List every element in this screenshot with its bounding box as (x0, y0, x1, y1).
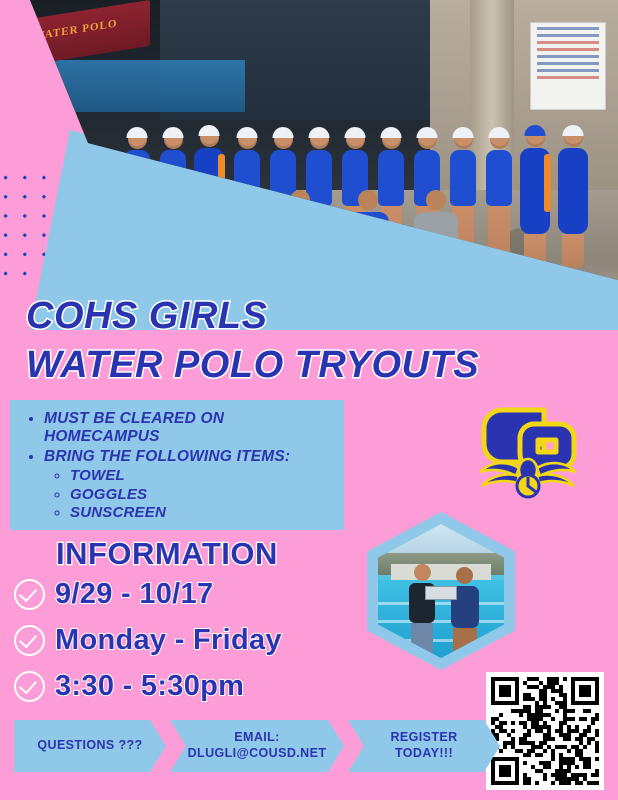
register-banner[interactable]: REGISTER TODAY!!! (348, 720, 500, 772)
headline-line-1: COHS GIRLS (26, 292, 479, 341)
headline-line-2: WATER POLO TRYOUTS (26, 341, 479, 390)
email-banner[interactable]: EMAIL: DLUGLI@COUSD.NET (170, 720, 344, 772)
information-list: 9/29 - 10/17 Monday - Friday 3:30 - 5:30… (14, 578, 282, 716)
medal-plaque (425, 586, 457, 600)
registration-qr-code[interactable] (486, 672, 604, 790)
flyer-canvas: WATER POLO (0, 0, 618, 800)
information-heading: INFORMATION (56, 536, 278, 572)
requirements-list: MUST BE CLEARED ON HOMECAMPUS BRING THE … (10, 410, 344, 522)
register-banner-label: REGISTER TODAY!!! (348, 730, 500, 761)
check-circle-icon (14, 625, 45, 656)
questions-banner-label: QUESTIONS ??? (25, 738, 154, 754)
list-item: MUST BE CLEARED ON HOMECAMPUS (44, 410, 344, 447)
list-item: SUNSCREEN (70, 504, 344, 522)
list-item: BRING THE FOLLOWING ITEMS: TOWEL GOGGLES… (44, 448, 344, 522)
information-dates: 9/29 - 10/17 (55, 578, 213, 611)
list-item: 9/29 - 10/17 (14, 578, 282, 611)
list-item: 3:30 - 5:30pm (14, 670, 282, 703)
information-days: Monday - Friday (55, 624, 282, 657)
list-item: TOWEL (70, 467, 344, 485)
bring-items-list: TOWEL GOGGLES SUNSCREEN (44, 467, 344, 522)
cohs-chargers-logo (472, 398, 584, 502)
call-to-action-banners: QUESTIONS ??? EMAIL: DLUGLI@COUSD.NET RE… (14, 720, 500, 772)
email-banner-label: EMAIL: DLUGLI@COUSD.NET (176, 730, 339, 761)
information-time: 3:30 - 5:30pm (55, 670, 244, 703)
list-item: GOGGLES (70, 486, 344, 504)
check-circle-icon (14, 579, 45, 610)
requirement-label: BRING THE FOLLOWING ITEMS: (44, 448, 290, 465)
list-item: Monday - Friday (14, 624, 282, 657)
coach-and-athlete-photo (367, 512, 515, 670)
page-title: COHS GIRLS WATER POLO TRYOUTS (26, 292, 479, 391)
check-circle-icon (14, 671, 45, 702)
questions-banner[interactable]: QUESTIONS ??? (14, 720, 166, 772)
requirement-label: MUST BE CLEARED ON HOMECAMPUS (44, 410, 224, 445)
requirements-panel: MUST BE CLEARED ON HOMECAMPUS BRING THE … (10, 400, 344, 530)
